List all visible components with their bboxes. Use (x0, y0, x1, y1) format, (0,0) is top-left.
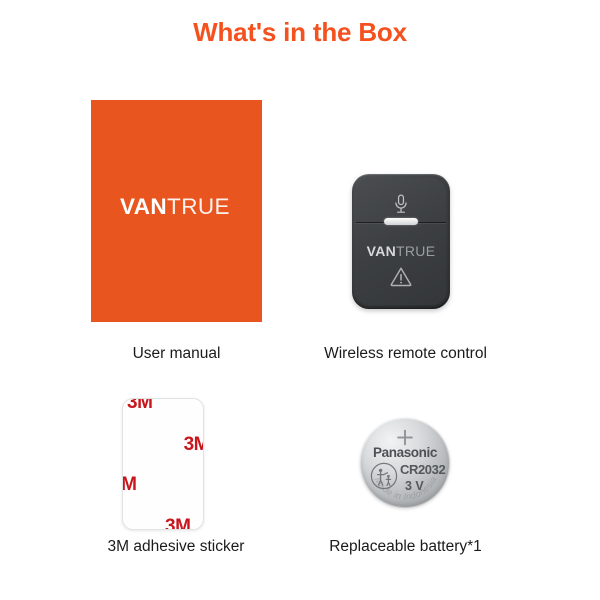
remote-body: VANTRUE (356, 178, 446, 305)
remote-vantrue-logo: VANTRUE (356, 244, 446, 258)
vantrue-logo: VANTRUE (120, 196, 230, 219)
whats-in-the-box-infographic: What's in the Box VANTRUE User manual VA… (0, 0, 600, 600)
svg-text:Made in Indonesia: Made in Indonesia (372, 475, 438, 502)
led-indicator (384, 218, 418, 225)
battery-origin-label: Made in Indonesia (372, 475, 438, 502)
vantrue-logo-bold: VAN (120, 194, 167, 219)
caption-user-manual: User manual (91, 345, 262, 363)
3m-mark-bottom: 3M (165, 517, 190, 530)
remote-logo-light: TRUE (396, 243, 435, 259)
caption-wireless-remote-control: Wireless remote control (300, 345, 511, 363)
vantrue-logo-light: TRUE (167, 194, 230, 219)
sos-warning-icon[interactable] (390, 266, 413, 287)
microphone-icon (394, 194, 409, 215)
caption-3m-adhesive-sticker: 3M adhesive sticker (60, 538, 292, 556)
battery-origin-text: Made in Indonesia (360, 418, 450, 508)
product-image-3m-adhesive-sticker: 3M 3M 3M 3M (122, 398, 204, 530)
product-image-replaceable-battery: Panasonic CR2032 3 V Made in Indonesia (360, 418, 450, 508)
product-image-user-manual: VANTRUE (91, 100, 262, 322)
product-image-wireless-remote-control: VANTRUE (352, 174, 450, 309)
3m-mark-left: 3M (122, 475, 136, 494)
caption-replaceable-battery: Replaceable battery*1 (300, 538, 511, 556)
remote-logo-bold: VAN (367, 243, 396, 259)
page-title: What's in the Box (0, 17, 600, 48)
3m-mark-right: 3M (184, 435, 204, 454)
3m-mark-top: 3M (127, 398, 152, 412)
